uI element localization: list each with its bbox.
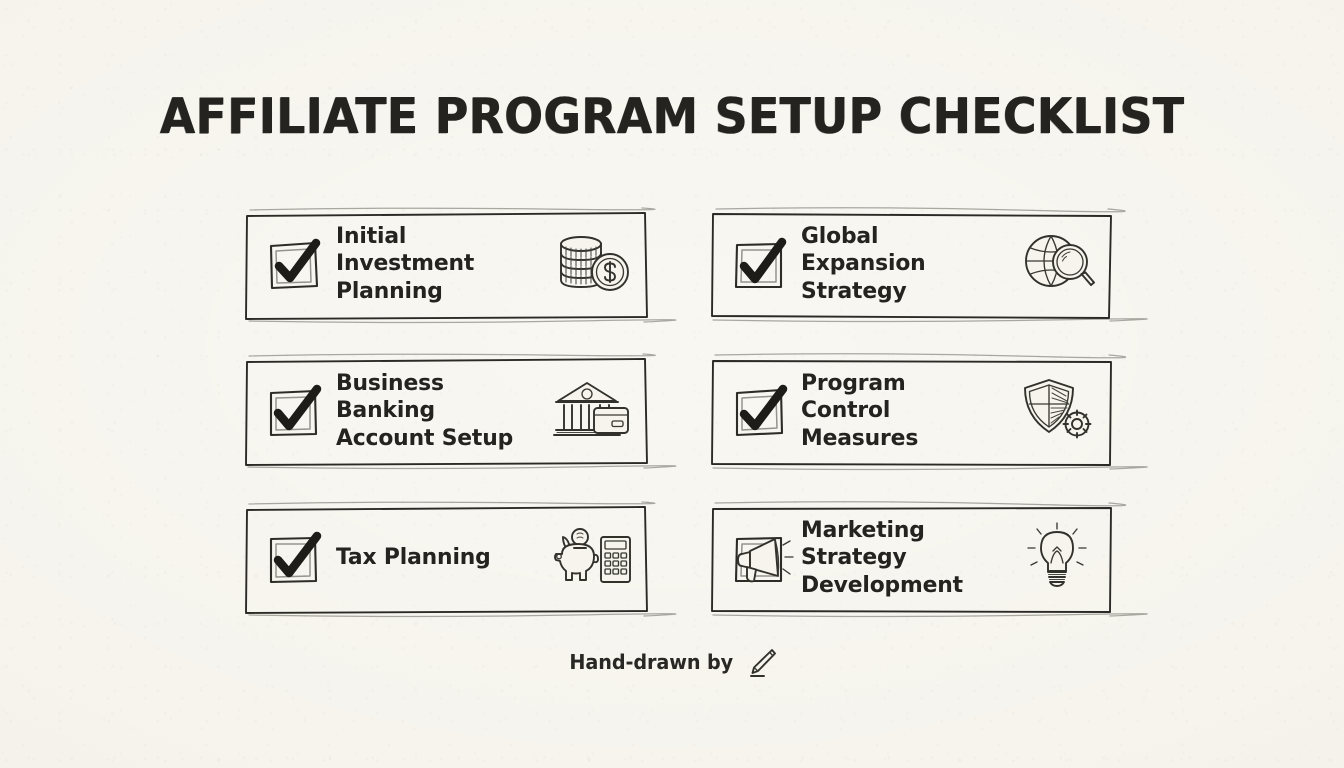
checklist-item-label: Initial Investment Planning (336, 223, 544, 305)
checklist-card-tax-planning[interactable]: Tax Planning (243, 499, 650, 617)
checklist-poster: AFFILIATE PROGRAM SETUP CHECKLIST Initia… (0, 0, 1344, 768)
checkbox-checked[interactable] (262, 233, 324, 295)
checkbox-unchecked[interactable] (727, 527, 789, 589)
piggy-bank-calculator-icon (550, 521, 634, 595)
checklist-grid: Initial Investment Planning (243, 205, 1115, 617)
checklist-card-marketing-strategy-development[interactable]: Marketing Strategy Development (708, 499, 1115, 617)
footer: Hand-drawn by (0, 646, 1344, 678)
checklist-card-business-banking-account-setup[interactable]: Business Banking Account Setup (243, 352, 650, 470)
footer-text: Hand-drawn by (570, 650, 734, 674)
checkbox-checked[interactable] (727, 233, 789, 295)
checkbox-checked[interactable] (727, 380, 789, 442)
checklist-item-label: Marketing Strategy Development (801, 517, 1009, 599)
checklist-item-label: Business Banking Account Setup (336, 370, 544, 452)
checklist-item-label: Program Control Measures (801, 370, 1009, 452)
checklist-item-label: Tax Planning (336, 544, 544, 571)
pencil-icon (746, 646, 778, 678)
coin-stack-dollar-icon (550, 227, 634, 301)
checklist-card-program-control-measures[interactable]: Program Control Measures (708, 352, 1115, 470)
checklist-card-global-expansion-strategy[interactable]: Global Expansion Strategy (708, 205, 1115, 323)
bank-credit-card-icon (550, 374, 634, 448)
shield-gear-icon (1015, 374, 1099, 448)
checklist-card-initial-investment-planning[interactable]: Initial Investment Planning (243, 205, 650, 323)
checkbox-checked[interactable] (262, 527, 324, 589)
globe-magnifier-icon (1015, 227, 1099, 301)
lightbulb-icon (1015, 521, 1099, 595)
checklist-item-label: Global Expansion Strategy (801, 223, 1009, 305)
page-title: AFFILIATE PROGRAM SETUP CHECKLIST (47, 88, 1297, 145)
megaphone-icon (733, 531, 795, 587)
checkbox-checked[interactable] (262, 380, 324, 442)
